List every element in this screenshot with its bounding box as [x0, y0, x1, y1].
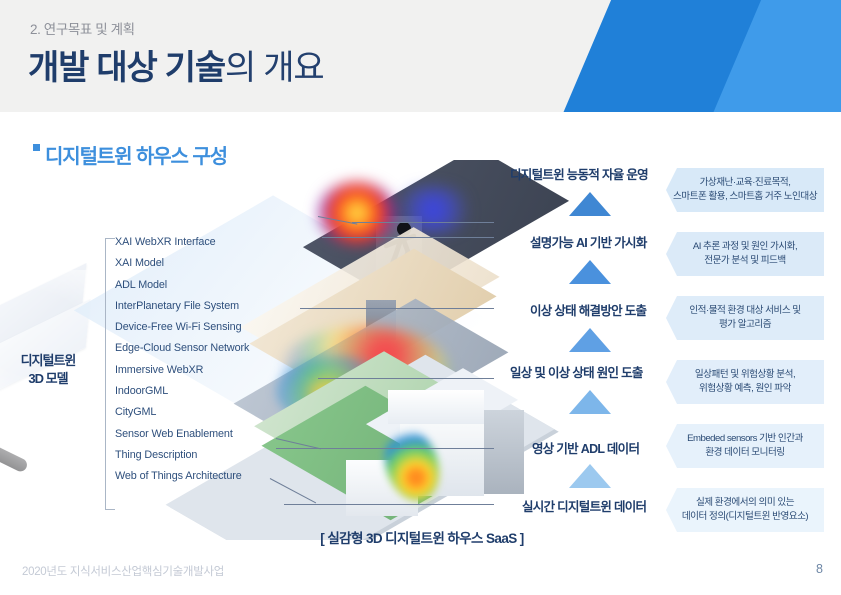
layer-desc-6-line1: 실제 환경에서의 의미 있는: [696, 497, 794, 508]
section-kicker: 2. 연구목표 및 계획: [30, 18, 135, 38]
list-item: Thing Description: [115, 449, 249, 461]
flow-triangle-3: [569, 328, 611, 352]
slide-header: 2. 연구목표 및 계획 개발 대상 기술의 개요: [0, 0, 841, 112]
tech-list-brace: [105, 238, 115, 510]
left-model-caption-line2: 3D 모델: [28, 371, 67, 386]
list-item: XAI WebXR Interface: [115, 236, 249, 248]
leader-line-4: [318, 378, 494, 379]
layer-desc-chip-1: 가상재난·교육·진료목적, 스마트폰 활용, 스마트홈 거주 노인대상: [666, 168, 824, 212]
layer-desc-1-line2: 스마트폰 활용, 스마트홈 거주 노인대상: [673, 191, 817, 202]
layer-label-1: 디지털트윈 능동적 자율 운영: [510, 164, 648, 183]
left-model-caption: 디지털트윈 3D 모델: [2, 352, 94, 387]
layer-label-2: 설명가능 AI 기반 가시화: [530, 232, 647, 251]
page-title: 개발 대상 기술의 개요: [28, 40, 323, 89]
slide-root: 2. 연구목표 및 계획 개발 대상 기술의 개요 디지털트윈 하우스 구성: [0, 0, 841, 595]
layer-desc-chip-2: AI 추론 과정 및 원인 가시화, 전문가 분석 및 피드백: [666, 232, 824, 276]
list-item: Sensor Web Enablement: [115, 428, 249, 440]
layer-desc-3-line1: 인적·물적 환경 대상 서비스 및: [689, 305, 800, 316]
layer-label-4: 일상 및 이상 상태 원인 도출: [510, 362, 643, 381]
figure-caption: [ 실감형 3D 디지털트윈 하우스 SaaS ]: [232, 527, 612, 547]
left-model-caption-line1: 디지털트윈: [21, 353, 76, 368]
leader-line-1: [352, 222, 494, 223]
page-title-light: 의 개요: [225, 49, 324, 87]
flow-triangle-2: [569, 260, 611, 284]
layer-desc-5-line2: 환경 데이터 모니터링: [705, 447, 784, 458]
tech-stack-list: XAI WebXR Interface XAI Model ADL Model …: [115, 236, 249, 492]
leader-line-3: [300, 308, 494, 309]
layer-desc-chip-6: 실제 환경에서의 의미 있는 데이터 정의(디지털트윈 반영요소): [666, 488, 824, 532]
layer-desc-chip-3: 인적·물적 환경 대상 서비스 및 평가 알고리즘: [666, 296, 824, 340]
flow-triangle-1: [569, 192, 611, 216]
page-title-bold: 개발 대상 기술: [28, 49, 225, 87]
page-number: 8: [816, 562, 823, 576]
list-item: Web of Things Architecture: [115, 470, 249, 482]
list-item: CityGML: [115, 406, 249, 418]
stylus-icon: [0, 429, 29, 473]
layer-desc-1-line1: 가상재난·교육·진료목적,: [700, 177, 791, 188]
list-item: Edge-Cloud Sensor Network: [115, 342, 249, 354]
section-bullet-icon: [33, 144, 40, 151]
leader-line-2: [322, 237, 494, 238]
layer-desc-6-line2: 데이터 정의(디지털트윈 반영요소): [682, 511, 808, 522]
layer-desc-5-line1: Embeded sensors 기반 인간과: [687, 433, 803, 444]
layer-desc-2-line2: 전문가 분석 및 피드백: [704, 255, 785, 266]
house-volume-upper: [388, 390, 484, 424]
layer-desc-2-line1: AI 추론 과정 및 원인 가시화,: [693, 241, 797, 252]
layer-label-5: 영상 기반 ADL 데이터: [532, 438, 639, 457]
layer-label-3: 이상 상태 해결방안 도출: [530, 300, 646, 319]
list-item: Immersive WebXR: [115, 364, 249, 376]
list-item: InterPlanetary File System: [115, 300, 249, 312]
list-item: IndoorGML: [115, 385, 249, 397]
footer-program-name: 2020년도 지식서비스산업핵심기술개발사업: [22, 563, 224, 579]
leader-line-5: [276, 448, 494, 449]
layer-desc-4-line1: 일상패턴 및 위험상황 분석,: [695, 369, 795, 380]
list-item: Device-Free Wi-Fi Sensing: [115, 321, 249, 333]
list-item: XAI Model: [115, 257, 249, 269]
flow-triangle-5: [569, 464, 611, 488]
layer-desc-3-line2: 평가 알고리즘: [719, 319, 771, 330]
flow-triangle-4: [569, 390, 611, 414]
house-volume-shadow: [480, 410, 524, 494]
layer-desc-4-line2: 위험상황 예측, 원인 파악: [699, 383, 791, 394]
layer-desc-chip-5: Embeded sensors 기반 인간과 환경 데이터 모니터링: [666, 424, 824, 468]
leader-line-6: [284, 504, 494, 505]
layer-desc-chip-4: 일상패턴 및 위험상황 분석, 위험상황 예측, 원인 파악: [666, 360, 824, 404]
layer-label-6: 실시간 디지털트윈 데이터: [522, 496, 646, 515]
list-item: ADL Model: [115, 279, 249, 291]
